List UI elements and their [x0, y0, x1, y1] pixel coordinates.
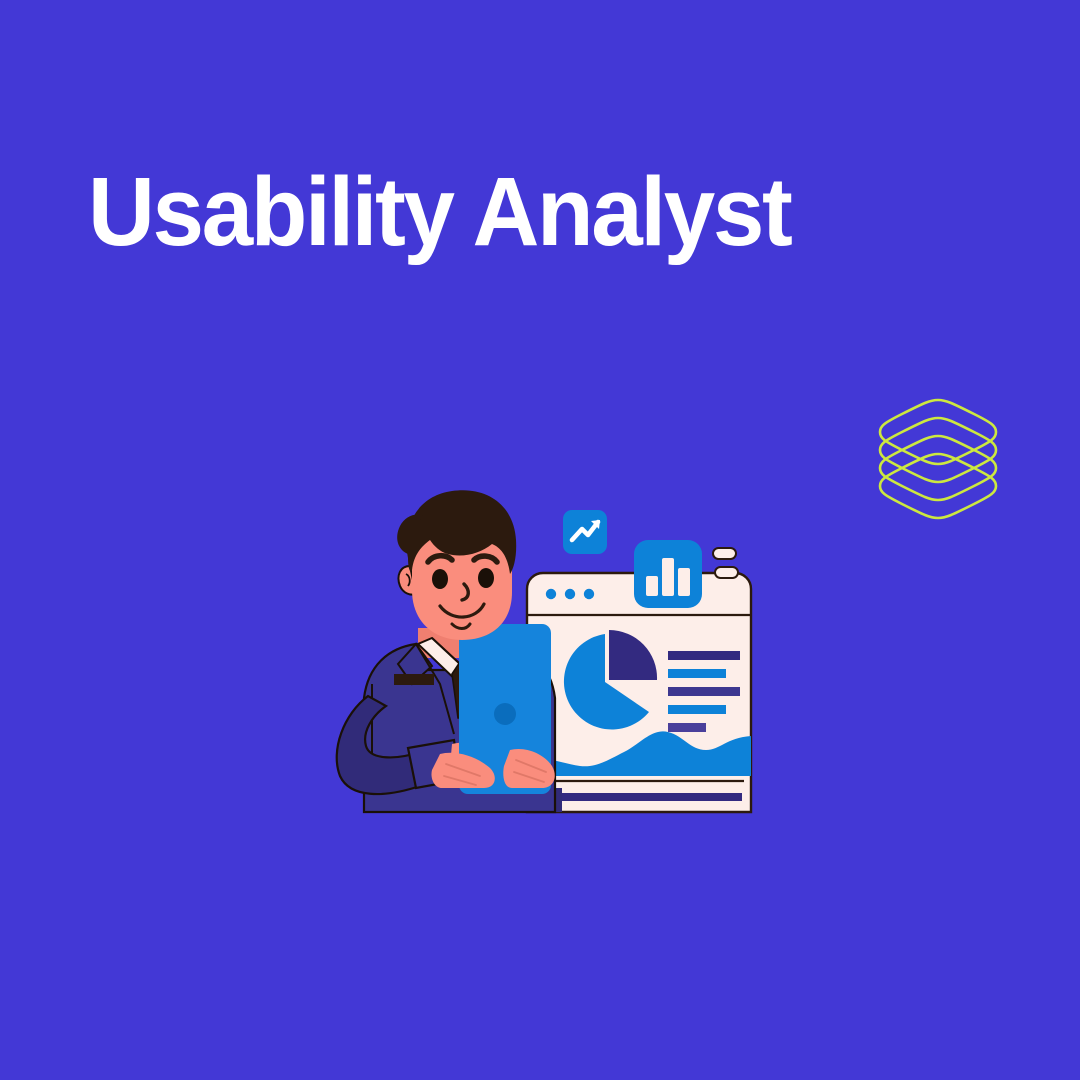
text-row-5: [668, 723, 706, 732]
page-title: Usability Analyst: [88, 163, 948, 260]
layer-shape-2: [880, 418, 996, 482]
dashboard-footer-bar: [538, 793, 742, 801]
poster-canvas: Usability Analyst: [0, 0, 1080, 1080]
character-tablet-button: [494, 703, 516, 725]
analyst-with-dashboard-illustration: [312, 488, 794, 832]
illustration-svg: [312, 488, 794, 832]
text-row-3: [668, 687, 740, 696]
bar-chart-card: [634, 540, 702, 608]
window-dot-1: [546, 589, 556, 599]
text-row-2: [668, 669, 726, 678]
character-eye-right: [478, 568, 494, 588]
bar-chart-icon-bar-3: [678, 568, 690, 596]
layer-shape-3: [880, 436, 996, 500]
character-pocket: [394, 674, 434, 685]
layers-stack-icon: [874, 392, 1002, 520]
decorative-pills: [713, 548, 738, 578]
window-dot-2: [565, 589, 575, 599]
pill-top: [713, 548, 736, 559]
text-row-4: [668, 705, 726, 714]
character-eye-left: [432, 569, 448, 589]
pill-bottom: [715, 567, 738, 578]
bar-chart-icon-bar-2: [662, 558, 674, 596]
window-dot-3: [584, 589, 594, 599]
layers-stack-icon-svg: [874, 392, 1002, 520]
bar-chart-icon-bar-1: [646, 576, 658, 596]
trending-up-card: [563, 510, 607, 554]
dashboard-window: [527, 573, 751, 812]
text-row-1: [668, 651, 740, 660]
business-analyst-character: [337, 490, 562, 812]
